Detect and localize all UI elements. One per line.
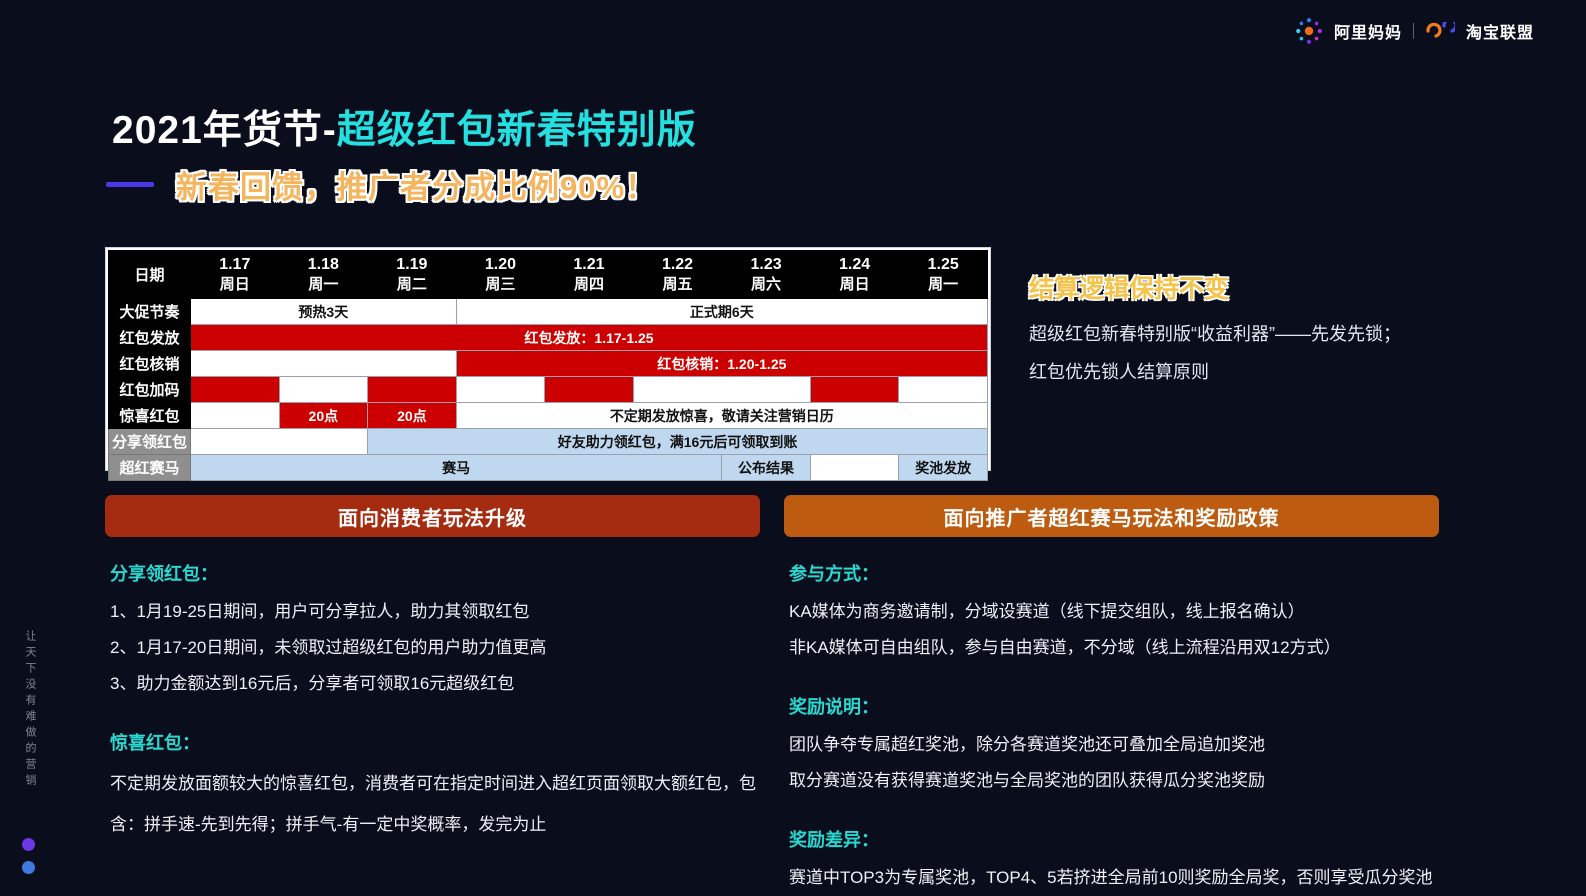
settlement-note-body: 超级红包新春特别版“收益利器”——先发先锁； 红包优先锁人结算原则: [1029, 315, 1569, 391]
block-gap: [110, 702, 790, 729]
section-line: 非KA媒体可自由组队，参与自由赛道，不分域（线上流程沿用双12方式）: [789, 630, 1469, 666]
schedule-date-header: 1.20周三: [456, 251, 545, 299]
schedule-date-header: 1.21周四: [545, 251, 634, 299]
schedule-date-header: 1.18周一: [279, 251, 368, 299]
schedule-cell: [899, 377, 988, 403]
subtitle-dash: [106, 182, 154, 187]
schedule-cell: 不定期发放惊喜，敬请关注营销日历: [456, 403, 987, 429]
section-heading: 参与方式：: [789, 560, 1469, 586]
schedule-row-label: 惊喜红包: [109, 403, 191, 429]
section-line: 取分赛道没有获得赛道奖池与全局奖池的团队获得瓜分奖池奖励: [789, 763, 1469, 799]
schedule-row-label: 分享领红包: [109, 429, 191, 455]
schedule-cell: [279, 377, 368, 403]
schedule-row-label: 红包加码: [109, 377, 191, 403]
alimama-burst-icon: [1295, 17, 1323, 45]
schedule-row: 红包加码: [109, 377, 988, 403]
schedule-header-row: 日期1.17周日1.18周一1.19周二1.20周三1.21周四1.22周五1.…: [109, 251, 988, 299]
schedule-row: 红包核销红包核销：1.20-1.25: [109, 351, 988, 377]
schedule-cell: 20点: [279, 403, 368, 429]
section-line: 1、1月19-25日期间，用户可分享拉人，助力其领取红包: [110, 594, 790, 630]
schedule-date-label: 日期: [109, 251, 191, 299]
schedule-row-label: 大促节奏: [109, 299, 191, 325]
schedule-date-header: 1.24周日: [810, 251, 899, 299]
schedule-row-label: 红包核销: [109, 351, 191, 377]
schedule-cell: 预热3天: [191, 299, 457, 325]
page-subtitle-row: 新春回馈，推广者分成比例90%！: [106, 162, 657, 207]
schedule-cell: [545, 377, 634, 403]
taobao-union-icon: [1425, 22, 1455, 40]
section-line: KA媒体为商务邀请制，分域设赛道（线下提交组队，线上报名确认）: [789, 594, 1469, 630]
schedule-cell: 奖池发放: [899, 455, 988, 481]
section-line: 2、1月17-20日期间，未领取过超级红包的用户助力值更高: [110, 630, 790, 666]
schedule-cell: [191, 403, 280, 429]
schedule-cell: [633, 377, 810, 403]
schedule-cell: 好友助力领红包，满16元后可领取到账: [368, 429, 988, 455]
schedule-cell: [810, 455, 899, 481]
schedule-date-header: 1.22周五: [633, 251, 722, 299]
schedule-cell: [191, 429, 368, 455]
section-heading: 奖励说明：: [789, 693, 1469, 719]
block-gap: [789, 666, 1469, 693]
schedule-row: 超红赛马赛马公布结果奖池发放: [109, 455, 988, 481]
schedule-cell: [456, 377, 545, 403]
schedule-row: 分享领红包好友助力领红包，满16元后可领取到账: [109, 429, 988, 455]
schedule-table-wrapper: 日期1.17周日1.18周一1.19周二1.20周三1.21周四1.22周五1.…: [105, 247, 991, 471]
schedule-table: 日期1.17周日1.18周一1.19周二1.20周三1.21周四1.22周五1.…: [108, 250, 988, 481]
schedule-row: 红包发放红包发放：1.17-1.25: [109, 325, 988, 351]
schedule-row: 惊喜红包20点20点不定期发放惊喜，敬请关注营销日历: [109, 403, 988, 429]
page-title-part2: 超级红包新春特别版: [337, 109, 697, 152]
settlement-note-line-1: 超级红包新春特别版“收益利器”——先发先锁；: [1029, 315, 1569, 353]
schedule-cell: 红包发放：1.17-1.25: [191, 325, 988, 351]
block-gap: [789, 799, 1469, 826]
schedule-cell: 正式期6天: [456, 299, 987, 325]
logo-secondary-label: 淘宝联盟: [1466, 19, 1534, 43]
logo-primary-label: 阿里妈妈: [1334, 19, 1402, 43]
rail-decor-dots: [22, 838, 35, 884]
section-paragraph: 不定期发放面额较大的惊喜红包，消费者可在指定时间进入超红页面领取大额红包，包含：…: [110, 763, 770, 845]
schedule-row-label: 红包发放: [109, 325, 191, 351]
page-title-part1: 2021年货节-: [112, 109, 337, 152]
schedule-cell: 20点: [368, 403, 457, 429]
settlement-note-line-2: 红包优先锁人结算原则: [1029, 353, 1569, 391]
rail-dot-blue: [22, 861, 35, 874]
content-column-left: 分享领红包：1、1月19-25日期间，用户可分享拉人，助力其领取红包2、1月17…: [110, 560, 790, 845]
schedule-cell: 公布结果: [722, 455, 811, 481]
schedule-cell: 赛马: [191, 455, 722, 481]
rail-vertical-slogan: 让天下没有难做的营销: [20, 630, 40, 790]
logo-divider: [1413, 23, 1414, 39]
section-line: 赛道中TOP3为专属奖池，TOP4、5若挤进全局前10则奖励全局奖，否则享受瓜分…: [789, 860, 1469, 896]
section-line: 团队争夺专属超红奖池，除分各赛道奖池还可叠加全局追加奖池: [789, 727, 1469, 763]
content-column-right: 参与方式：KA媒体为商务邀请制，分域设赛道（线下提交组队，线上报名确认）非KA媒…: [789, 560, 1469, 896]
section-heading: 惊喜红包：: [110, 729, 790, 755]
brand-logo-bar: 阿里妈妈 淘宝联盟: [1295, 17, 1534, 45]
section-heading: 奖励差异：: [789, 826, 1469, 852]
schedule-cell: [810, 377, 899, 403]
schedule-date-header: 1.19周二: [368, 251, 457, 299]
banner-consumer[interactable]: 面向消费者玩法升级: [105, 495, 760, 537]
settlement-note-title: 结算逻辑保持不变: [1029, 269, 1229, 305]
schedule-cell: [368, 377, 457, 403]
page-subtitle: 新春回馈，推广者分成比例90%！: [176, 162, 657, 207]
section-line: 3、助力金额达到16元后，分享者可领取16元超级红包: [110, 666, 790, 702]
schedule-date-header: 1.25周一: [899, 251, 988, 299]
section-heading: 分享领红包：: [110, 560, 790, 586]
schedule-cell: [191, 377, 280, 403]
schedule-row: 大促节奏预热3天正式期6天: [109, 299, 988, 325]
schedule-row-label: 超红赛马: [109, 455, 191, 481]
schedule-cell: 红包核销：1.20-1.25: [456, 351, 987, 377]
schedule-date-header: 1.17周日: [191, 251, 280, 299]
schedule-cell: [191, 351, 457, 377]
page-title: 2021年货节-超级红包新春特别版: [112, 99, 697, 155]
rail-dot-purple: [22, 838, 35, 851]
banner-promoter[interactable]: 面向推广者超红赛马玩法和奖励政策: [784, 495, 1439, 537]
schedule-date-header: 1.23周六: [722, 251, 811, 299]
